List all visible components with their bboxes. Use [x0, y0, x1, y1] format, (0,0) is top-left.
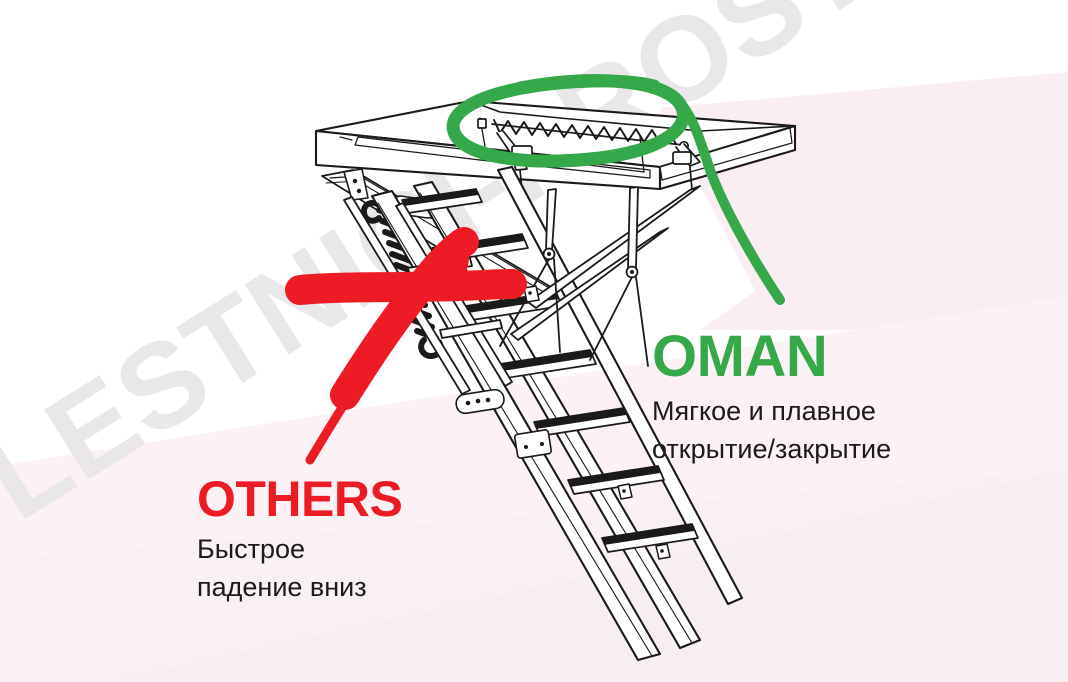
- oman-line-1: Мягкое и плавное: [652, 392, 891, 430]
- oman-title: OMAN: [652, 328, 891, 386]
- others-line-2: падение вниз: [197, 568, 402, 606]
- others-title: OTHERS: [197, 474, 402, 524]
- callout-text-layer: OMAN Мягкое и плавное открытие/закрытие …: [0, 0, 1068, 682]
- others-line-1: Быстрое: [197, 530, 402, 568]
- oman-line-2: открытие/закрытие: [652, 430, 891, 468]
- callout-oman: OMAN Мягкое и плавное открытие/закрытие: [652, 328, 891, 469]
- callout-others: OTHERS Быстрое падение вниз: [197, 474, 402, 607]
- infographic-canvas: LESTNICI-PROSTO.RU: [0, 0, 1068, 682]
